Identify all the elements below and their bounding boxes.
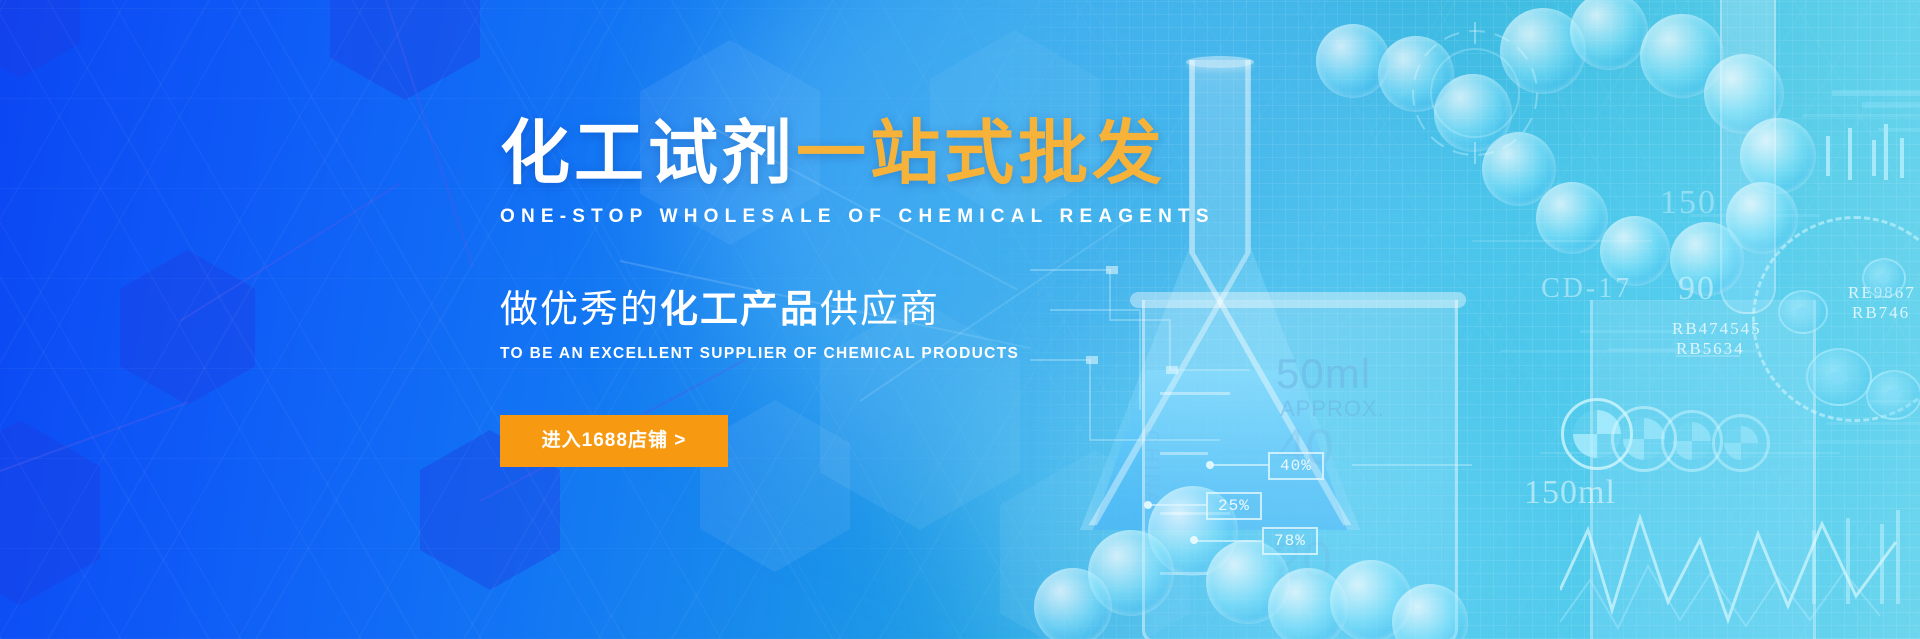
hero-banner: 50ml APPROX. 40 20 CHINA 40% 25% [0,0,1920,639]
hud-label-78-percent: 78% [1262,527,1318,555]
line-chart-overlay [1560,470,1900,630]
tagline-emphasis: 化工产品 [660,289,820,331]
radiation-dial-icon [1712,414,1770,472]
cell-icon [1806,348,1872,406]
cell-icon [1862,258,1906,298]
hero-copy: 化工试剂一站式批发 ONE-STOP WHOLESALE OF CHEMICAL… [500,118,1460,467]
enter-1688-store-button[interactable]: 进入1688店铺 > [500,415,728,467]
cell-icon [1866,370,1920,420]
tagline-lead: 做优秀的 [500,289,660,331]
tagline-subtitle-en: TO BE AN EXCELLENT SUPPLIER OF CHEMICAL … [500,345,1460,363]
tagline-trail: 供应商 [820,289,940,331]
tagline: 做优秀的化工产品供应商 [500,290,1460,332]
hud-right-value: 90 [1678,266,1716,312]
headline: 化工试剂一站式批发 [500,118,1460,188]
headline-white: 化工试剂 [500,114,796,192]
hud-right-code: CD-17 [1541,270,1632,308]
flask-rim [1186,56,1254,68]
hud-label-25-percent: 25% [1206,492,1262,520]
headline-subtitle-en: ONE-STOP WHOLESALE OF CHEMICAL REAGENTS [500,206,1460,228]
hud-value-150: 150 [1660,180,1717,226]
cell-icon [1778,290,1828,334]
headline-orange: 一站式批发 [796,114,1166,192]
